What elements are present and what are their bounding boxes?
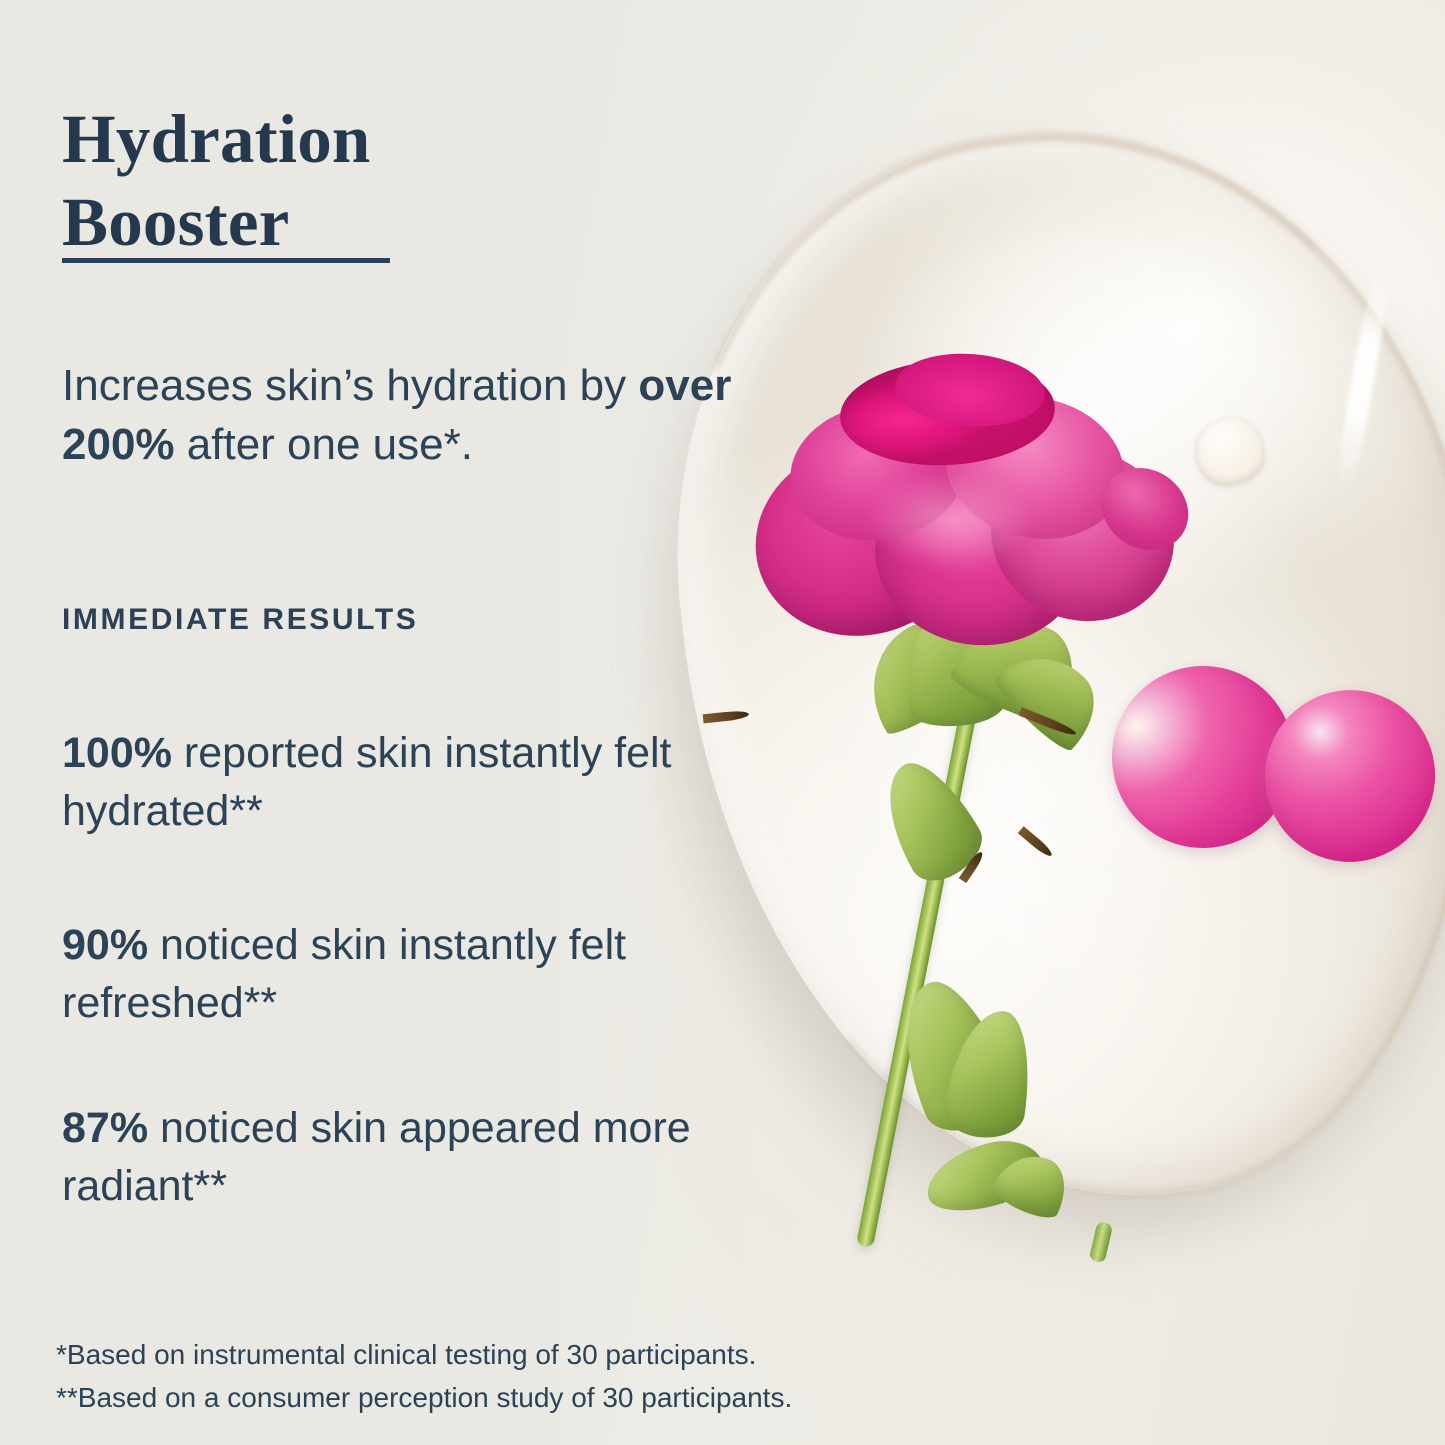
stat-value: 90% <box>62 921 148 969</box>
page-title-line-2: Booster <box>62 184 290 260</box>
stat-item: 90% noticed skin instantly felt refreshe… <box>62 916 742 1032</box>
page-title-line-1: Hydration <box>62 101 371 177</box>
page-title: HydrationBooster <box>62 98 582 264</box>
stat-value: 87% <box>62 1104 148 1152</box>
stat-description: noticed skin appeared more radiant** <box>62 1104 691 1210</box>
lede-paragraph: Increases skin’s hydration by over 200% … <box>62 357 762 475</box>
footnote-double-asterisk: **Based on a consumer perception study o… <box>56 1377 1016 1420</box>
stat-item: 87% noticed skin appeared more radiant** <box>62 1099 742 1215</box>
title-divider <box>62 258 390 263</box>
lede-text-after: after one use*. <box>175 420 473 469</box>
footnotes: *Based on instrumental clinical testing … <box>56 1334 1016 1419</box>
stat-item: 100% reported skin instantly felt hydrat… <box>62 724 742 840</box>
product-claim-graphic: HydrationBooster Increases skin’s hydrat… <box>0 0 1445 1445</box>
stat-value: 100% <box>62 729 172 777</box>
section-heading-immediate-results: IMMEDIATE RESULTS <box>62 603 418 637</box>
footnote-single-asterisk: *Based on instrumental clinical testing … <box>56 1334 1016 1377</box>
copy-block: HydrationBooster Increases skin’s hydrat… <box>0 0 1445 1445</box>
lede-text-before: Increases skin’s hydration by <box>62 361 638 410</box>
